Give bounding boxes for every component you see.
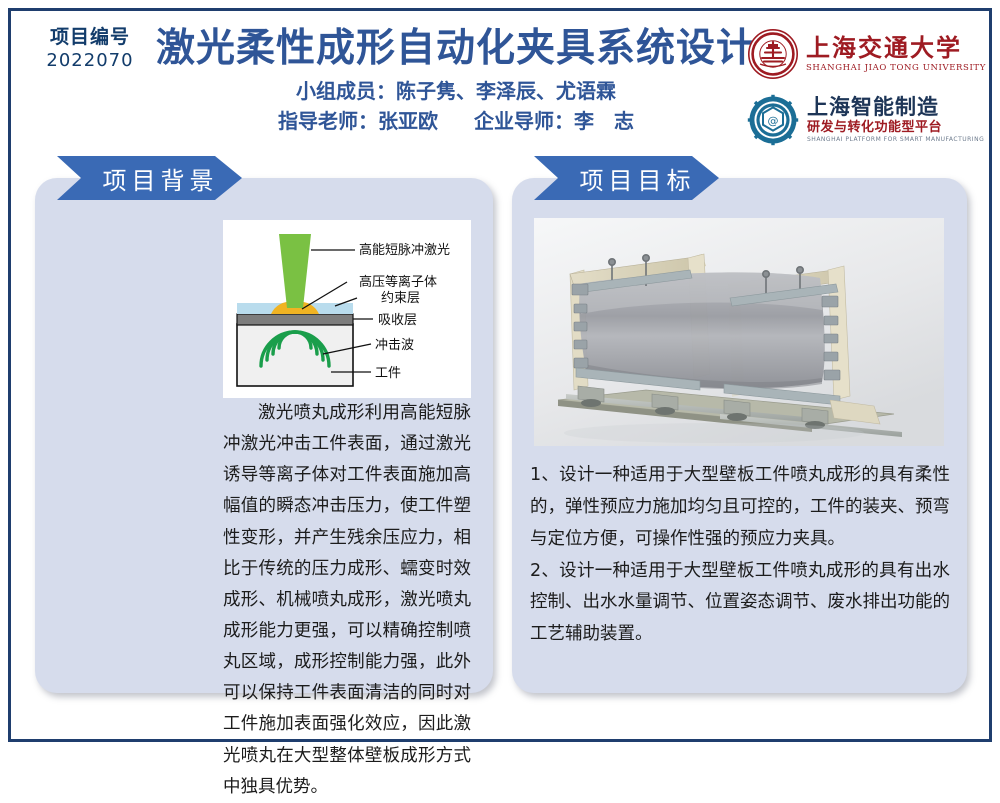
background-paragraph: 激光喷丸成形利用高能短脉冲激光冲击工件表面，通过激光诱导等离子体对工件表面施加高… bbox=[223, 398, 471, 803]
background-text-body: 高能短脉冲激光 高压等离子体 约束层 吸收层 冲击波 工件 激光喷丸成形利用高能… bbox=[57, 220, 471, 672]
project-number-label: 项目编号 bbox=[25, 27, 155, 49]
poster-header: 项目编号 2022070 激光柔性成形自动化夹具系统设计 小组成员：陈子隽、李泽… bbox=[11, 11, 989, 151]
advisors-line: 指导老师：张亚欧企业导师：李 志 bbox=[141, 109, 771, 134]
section-tab-background: 项目背景 bbox=[57, 156, 242, 200]
schematic-label-workpiece: 工件 bbox=[375, 366, 401, 381]
section-tab-background-label: 项目背景 bbox=[81, 161, 219, 196]
section-tab-goals: 项目目标 bbox=[534, 156, 719, 200]
advisor-label: 指导老师：张亚欧 bbox=[278, 109, 438, 133]
mentor-label: 企业导师：李 志 bbox=[474, 109, 634, 133]
smart-name-cn-sub: 研发与转化功能型平台 bbox=[807, 121, 984, 134]
panel-project-goals: 项目目标 bbox=[512, 178, 967, 693]
sjtu-name-en: SHANGHAI JIAO TONG UNIVERSITY bbox=[806, 64, 986, 73]
svg-text:@: @ bbox=[768, 115, 779, 128]
schematic-label-shockwave: 冲击波 bbox=[375, 338, 414, 353]
schematic-label-laser: 高能短脉冲激光 bbox=[359, 242, 450, 258]
sjtu-wordmark: 上海交通大学 SHANGHAI JIAO TONG UNIVERSITY bbox=[806, 36, 986, 73]
smart-wordmark: 上海智能制造 研发与转化功能型平台 SHANGHAI PLATFORM FOR … bbox=[807, 97, 984, 143]
schematic-label-plasma: 高压等离子体 bbox=[359, 274, 437, 290]
project-number-value: 2022070 bbox=[25, 51, 155, 72]
laser-peening-schematic: 高能短脉冲激光 高压等离子体 约束层 吸收层 冲击波 工件 激光喷丸成形利用高能… bbox=[223, 220, 471, 398]
page-title: 激光柔性成形自动化夹具系统设计 bbox=[141, 29, 771, 70]
poster-page: 项目编号 2022070 激光柔性成形自动化夹具系统设计 小组成员：陈子隽、李泽… bbox=[0, 0, 1000, 750]
sjtu-logo: 上海交通大学 SHANGHAI JIAO TONG UNIVERSITY bbox=[747, 25, 979, 83]
project-number-block: 项目编号 2022070 bbox=[25, 27, 155, 72]
panel-project-background: 项目背景 bbox=[35, 178, 493, 693]
sjtu-seal-icon bbox=[747, 28, 799, 80]
sjtu-name-cn: 上海交通大学 bbox=[806, 36, 986, 60]
fixture-cad-render bbox=[534, 218, 944, 446]
team-members: 小组成员：陈子隽、李泽辰、尤语霖 bbox=[141, 79, 771, 104]
smart-name-cn: 上海智能制造 bbox=[807, 97, 984, 118]
title-block: 激光柔性成形自动化夹具系统设计 小组成员：陈子隽、李泽辰、尤语霖 指导老师：张亚… bbox=[141, 29, 771, 134]
goal-item-1: 1、设计一种适用于大型壁板工件喷丸成形的具有柔性的，弹性预应力施加均匀且可控的，… bbox=[530, 460, 950, 556]
section-tab-goals-label: 项目目标 bbox=[558, 161, 696, 196]
smart-manufacturing-logo: @ 上海智能制造 bbox=[747, 91, 979, 149]
goal-item-2: 2、设计一种适用于大型壁板工件喷丸成形的具有出水控制、出水水量调节、位置姿态调节… bbox=[530, 556, 950, 652]
schematic-label-confining: 约束层 bbox=[381, 291, 420, 306]
smart-name-en: SHANGHAI PLATFORM FOR SMART MANUFACTURIN… bbox=[807, 137, 984, 143]
schematic-label-absorbing: 吸收层 bbox=[378, 313, 417, 328]
gear-icon: @ bbox=[747, 94, 799, 146]
logo-group: 上海交通大学 SHANGHAI JIAO TONG UNIVERSITY bbox=[747, 25, 979, 149]
goals-text-body: 1、设计一种适用于大型壁板工件喷丸成形的具有柔性的，弹性预应力施加均匀且可控的，… bbox=[530, 460, 950, 651]
